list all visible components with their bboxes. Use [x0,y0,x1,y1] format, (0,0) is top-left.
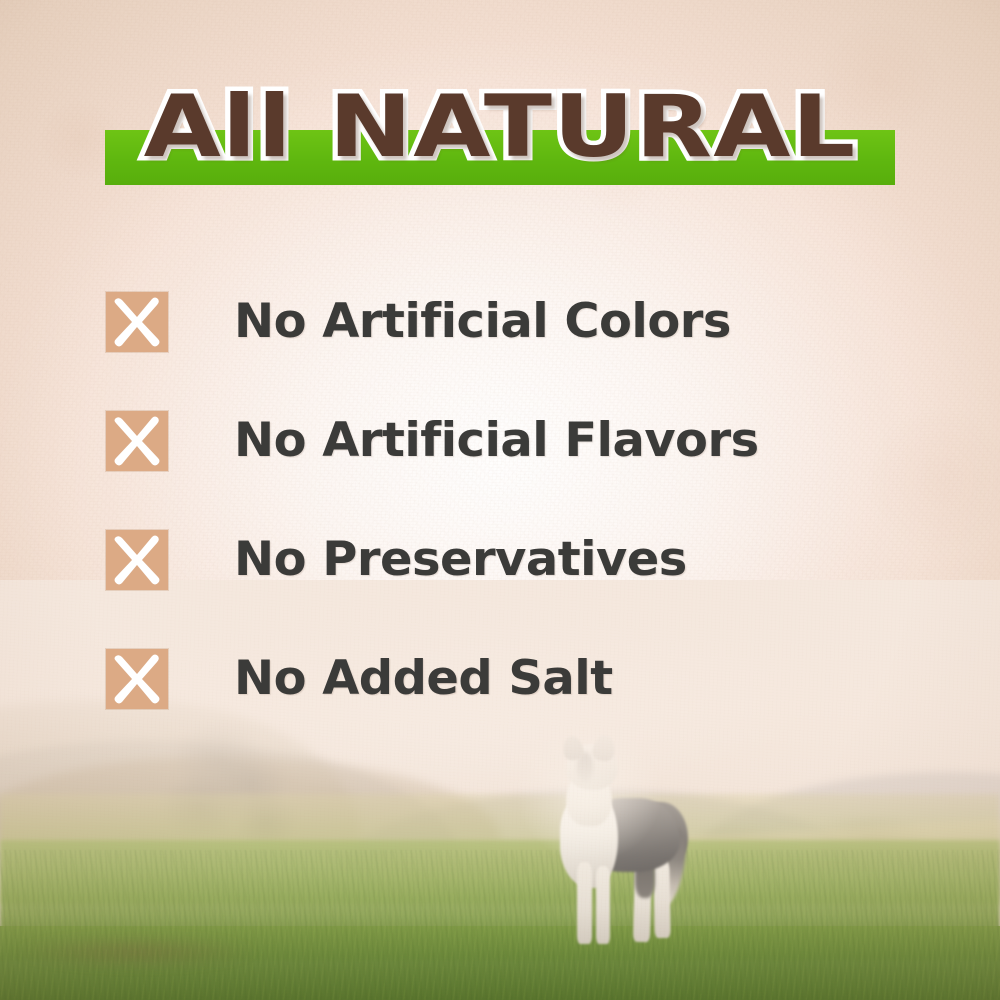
claim-row: No Preservatives [106,500,926,619]
headline-title: All NATURAL [0,72,1000,182]
x-mark-icon [106,530,168,590]
claim-label: No Artificial Flavors [234,416,759,466]
x-mark-icon [106,292,168,352]
claim-label: No Preservatives [234,535,687,585]
claim-row: No Added Salt [106,619,926,738]
headline-banner: All NATURAL [0,72,1000,192]
x-mark-icon [106,411,168,471]
claim-row: No Artificial Colors [106,262,926,381]
x-mark-icon [106,649,168,709]
claim-label: No Added Salt [234,654,613,704]
claim-row: No Artificial Flavors [106,381,926,500]
claims-list: No Artificial Colors No Artificial Flavo… [106,262,926,738]
claim-label: No Artificial Colors [234,297,731,347]
product-infographic: All NATURAL No Artificial Colors No Arti… [0,0,1000,1000]
